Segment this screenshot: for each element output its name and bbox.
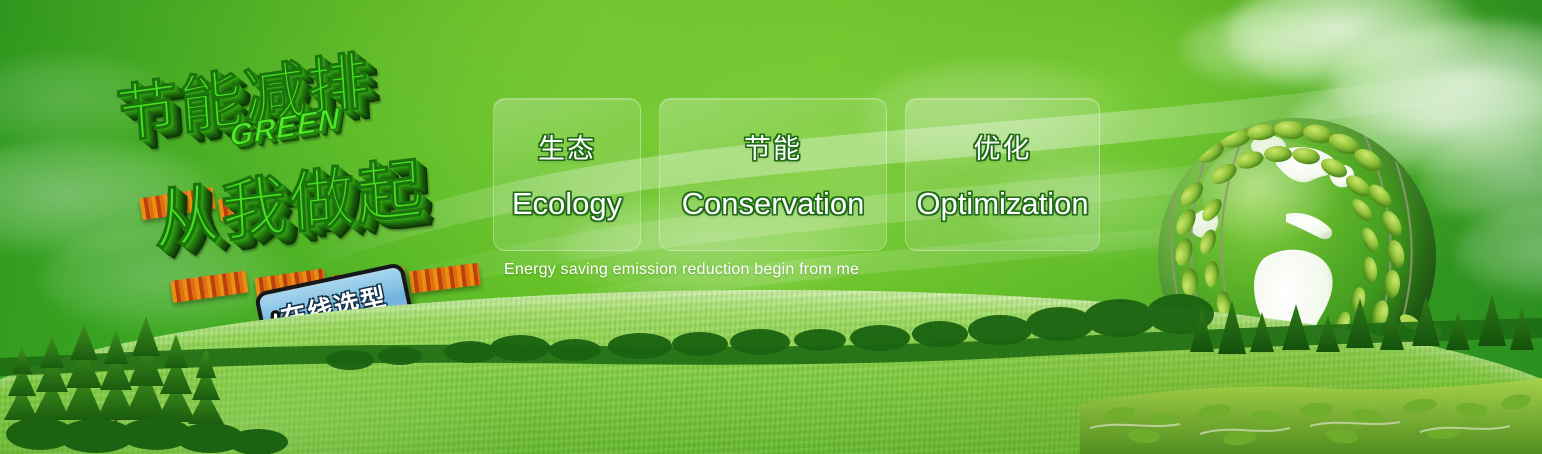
- card-label-en: Optimization: [916, 186, 1088, 222]
- card-label-cn: 生态: [538, 127, 596, 166]
- feature-cards: 生态 Ecology 节能 Conservation 优化 Optimizati…: [493, 98, 1118, 251]
- eco-banner: 节能减排 GREEN 从我做起 生态 Ecology 节能 Conservati…: [0, 0, 1542, 454]
- tagline: Energy saving emission reduction begin f…: [504, 261, 859, 279]
- card-label-cn: 节能: [744, 127, 802, 166]
- feature-card-ecology[interactable]: 生态 Ecology: [493, 98, 641, 251]
- leaf-litter: [1080, 358, 1542, 454]
- headline-line-3: 从我做起: [151, 134, 426, 263]
- card-label-en: Conservation: [682, 186, 865, 222]
- feature-card-conservation[interactable]: 节能 Conservation: [659, 98, 887, 251]
- card-label-en: Ecology: [512, 186, 622, 222]
- card-label-cn: 优化: [974, 127, 1032, 166]
- headline-3d: 节能减排 GREEN 从我做起: [85, 18, 507, 291]
- feature-card-optimization[interactable]: 优化 Optimization: [905, 98, 1100, 251]
